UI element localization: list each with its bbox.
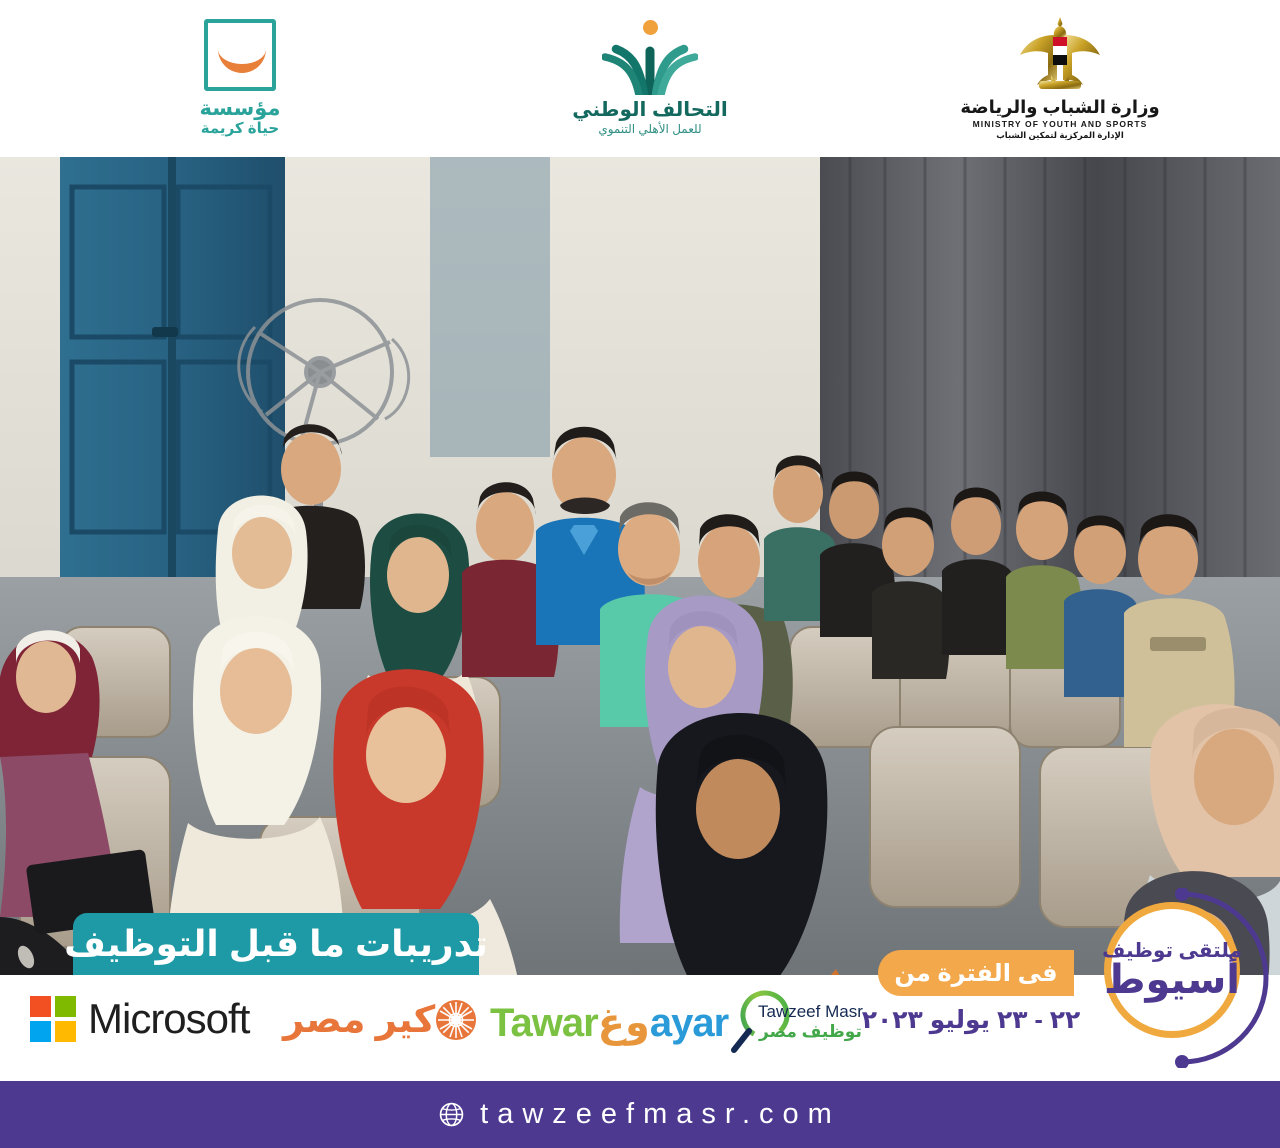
event-date-label: ٢٢ - ٢٣ يوليو ٢٠٢٣	[862, 1005, 1081, 1035]
logo-haya-karima-line1: مؤسسة	[200, 98, 281, 120]
footer-url[interactable]: tawzeefmasr.com	[480, 1098, 841, 1131]
poster-root: مؤسسة حياة كريمة التحالف الوطني للعمل	[0, 0, 1280, 1148]
logo-ministry-line3: الإدارة المركزية لتمكين الشباب	[996, 130, 1124, 142]
logo-haya-karima-line2: حياة كريمة	[201, 120, 279, 138]
sponsor-tawzeef-masr: Tawzeef Masr توظيف مصر	[728, 988, 794, 1054]
training-banner-label: تدريبات ما قبل التوظيف	[64, 923, 488, 965]
smile-curve-icon	[218, 49, 266, 73]
tawzeef-masr-label-en: Tawzeef Masr	[758, 1002, 863, 1022]
square-smile-icon	[204, 19, 276, 91]
logo-national-alliance: التحالف الوطني للعمل الأهلي التنموي	[560, 0, 740, 157]
event-date: ٢٢ - ٢٣ يوليو ٢٠٢٣	[866, 1000, 1076, 1040]
event-photo	[0, 157, 1280, 975]
eagle-of-saladin-icon	[1015, 15, 1105, 93]
period-pill-label: فى الفترة من	[894, 959, 1057, 988]
microsoft-square-red	[30, 996, 51, 1017]
tawzeef-masr-wordmark: Tawzeef Masr توظيف مصر	[758, 1002, 863, 1041]
microsoft-square-yellow	[55, 1021, 76, 1042]
logo-national-alliance-line2: للعمل الأهلي التنموي	[598, 122, 701, 138]
footer-content: tawzeefmasr.com	[439, 1098, 841, 1131]
microsoft-logo-icon	[30, 996, 76, 1042]
sponsor-microsoft: Microsoft	[30, 995, 249, 1043]
tawar-part3: ayar	[650, 1001, 728, 1046]
microsoft-square-blue	[30, 1021, 51, 1042]
header-logo-strip: مؤسسة حياة كريمة التحالف الوطني للعمل	[0, 0, 1280, 157]
sponsor-care-egypt: كير مصر	[283, 998, 485, 1041]
tawar-part2: وغ	[598, 1000, 650, 1046]
wheat-fan-icon	[602, 20, 698, 94]
logo-ministry-line2: MINISTRY OF YOUTH AND SPORTS	[973, 118, 1148, 131]
logo-haya-karima: مؤسسة حياة كريمة	[160, 0, 320, 157]
eagle-svg	[1015, 15, 1105, 93]
badge-main-line: أسيوط	[1104, 960, 1240, 1000]
microsoft-square-green	[55, 996, 76, 1017]
training-banner: تدريبات ما قبل التوظيف	[73, 913, 479, 975]
sponsor-tawar-w-ghayar: Tawar وغ ayar	[490, 1000, 728, 1046]
wheat-fan-svg	[602, 33, 698, 95]
microsoft-wordmark: Microsoft	[88, 995, 249, 1043]
care-egypt-starburst-icon	[435, 999, 477, 1041]
badge-circle: ملتقى توظيف أسيوط	[1104, 902, 1240, 1038]
logo-ministry-of-youth-and-sports: وزارة الشباب والرياضة MINISTRY OF YOUTH …	[960, 0, 1160, 157]
footer-bar: tawzeefmasr.com	[0, 1081, 1280, 1148]
asyut-job-fair-badge: ملتقى توظيف أسيوط	[1090, 888, 1270, 1068]
event-photo-illustration	[0, 157, 1280, 975]
globe-icon	[439, 1102, 464, 1127]
logo-ministry-line1: وزارة الشباب والرياضة	[960, 97, 1159, 118]
tawzeef-masr-label-ar: توظيف مصر	[758, 1022, 863, 1042]
care-egypt-wordmark: كير مصر	[283, 998, 435, 1041]
tawar-part1: Tawar	[490, 1001, 598, 1046]
logo-national-alliance-line1: التحالف الوطني	[572, 99, 727, 122]
period-pill: فى الفترة من	[878, 950, 1074, 996]
